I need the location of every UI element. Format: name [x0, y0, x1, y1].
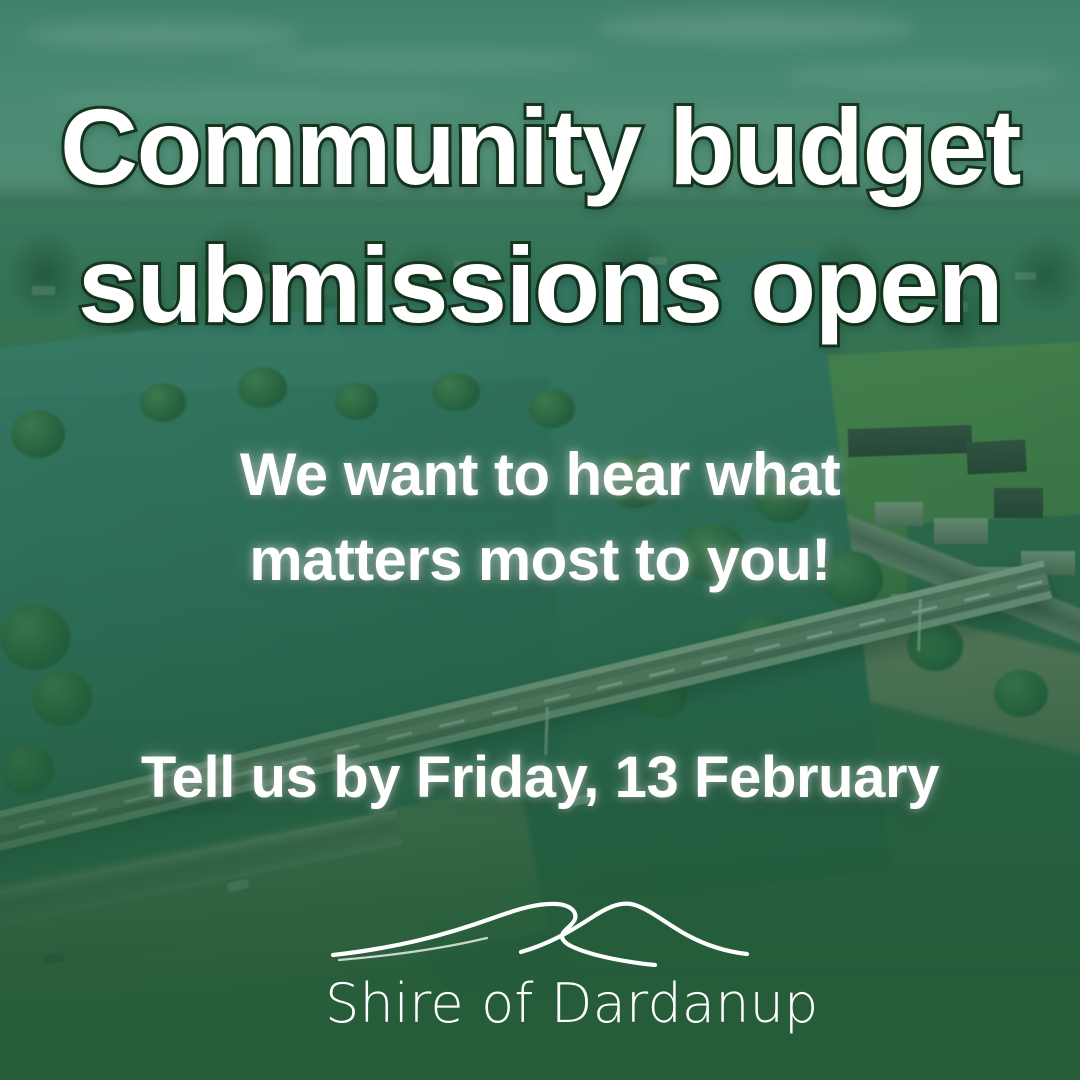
headline-line-1: Community budget: [60, 86, 1020, 207]
subheadline-line-1: We want to hear what: [240, 441, 840, 508]
subheadline-line-2: matters most to you!: [0, 517, 1080, 602]
hills-ranges-logo-mark-icon: [325, 892, 755, 970]
shire-of-dardanup-logo: Shire of Dardanup: [325, 892, 755, 1035]
headline-line-2: submissions open: [0, 216, 1080, 354]
deadline-text: Tell us by Friday, 13 February: [0, 744, 1080, 811]
logo-wordmark: Shire of Dardanup: [325, 972, 755, 1035]
social-media-poster: Community budget submissions open We wan…: [0, 0, 1080, 1080]
subheadline: We want to hear what matters most to you…: [0, 432, 1080, 602]
poster-content: Community budget submissions open We wan…: [0, 0, 1080, 1080]
page-title: Community budget submissions open: [0, 78, 1080, 354]
